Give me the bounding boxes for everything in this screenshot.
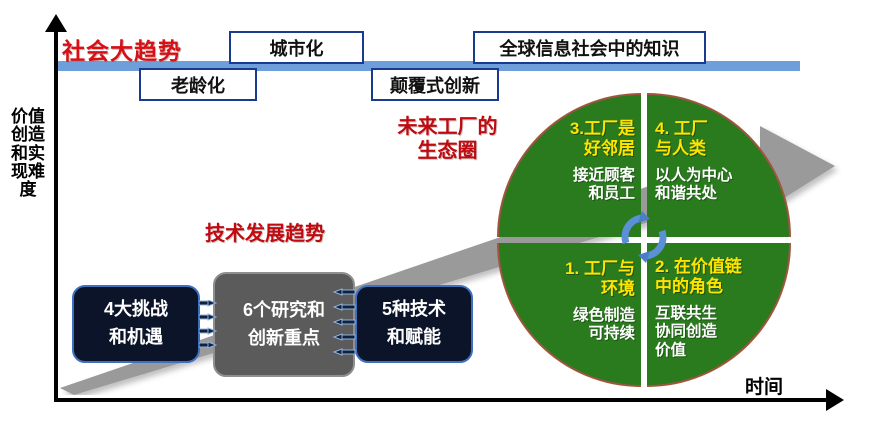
ecosystem-callout-line2: 生态圈 [385, 139, 510, 163]
quadrant-3-sub-line2: 和员工 [573, 185, 635, 203]
box-4-challenges-line1: 4大挑战 [104, 296, 168, 324]
megatrend-title: 社会大趋势 [62, 32, 182, 66]
future-factory-circle: 3.工厂是 好邻居 接近顾客 和员工 4. 工厂 与人类 以人为中心 和谐共处 … [497, 93, 791, 387]
box-5-technologies-line2: 和赋能 [387, 324, 441, 352]
arrows-left-to-center [199, 300, 217, 360]
ecosystem-callout-line1: 未来工厂的 [385, 115, 510, 139]
quadrant-3-title: 3.工厂是 好邻居 [570, 119, 635, 158]
quadrant-1-subtitle: 绿色制造 可持续 [573, 307, 635, 344]
tech-trend-callout: 技术发展趋势 [185, 222, 345, 246]
box-5-technologies-line1: 5种技术 [382, 296, 446, 324]
quadrant-4-sub-line2: 和谐共处 [655, 185, 733, 203]
box-6-research-focus-line2: 创新重点 [248, 325, 320, 353]
box-4-challenges-line2: 和机遇 [109, 324, 163, 352]
megatrend-box-disruptive-innovation[interactable]: 颠覆式创新 [371, 68, 499, 101]
quadrant-4-title-line2: 与人类 [655, 139, 708, 159]
ecosystem-callout: 未来工厂的 生态圈 [385, 115, 510, 164]
megatrend-box-aging[interactable]: 老龄化 [139, 68, 257, 101]
y-axis-label: 价值创造和实现难度 [8, 108, 48, 200]
quadrant-3-sub-line1: 接近顾客 [573, 167, 635, 185]
cycle-refresh-icon [612, 205, 676, 269]
x-axis-arrowhead [826, 389, 844, 411]
quadrant-1-title-line2: 环境 [565, 279, 635, 299]
x-axis-line [54, 398, 830, 402]
megatrend-box-global-knowledge[interactable]: 全球信息社会中的知识 [473, 31, 706, 64]
quadrant-3-title-line1: 3.工厂是 [570, 119, 635, 139]
quadrant-1-sub-line1: 绿色制造 [573, 307, 635, 325]
quadrant-4-subtitle: 以人为中心 和谐共处 [655, 167, 733, 204]
y-axis-arrowhead [45, 14, 67, 32]
quadrant-2-title-line2: 中的角色 [655, 277, 742, 297]
box-4-challenges[interactable]: 4大挑战 和机遇 [72, 285, 200, 363]
megatrend-box-urbanization[interactable]: 城市化 [229, 31, 364, 64]
quadrant-2-sub-line2: 协同创造 [655, 323, 717, 341]
quadrant-4-title-line1: 4. 工厂 [655, 119, 708, 139]
arrows-right-to-center [332, 288, 356, 366]
box-5-technologies[interactable]: 5种技术 和赋能 [355, 285, 473, 363]
quadrant-2-subtitle: 互联共生 协同创造 价值 [655, 305, 717, 360]
box-6-research-focus-line1: 6个研究和 [243, 297, 325, 325]
diagram-canvas: 价值创造和实现难度 时间 社会大趋势 城市化 老龄化 颠覆式创新 全球信息社会中… [0, 0, 879, 440]
quadrant-4-sub-line1: 以人为中心 [655, 167, 733, 185]
quadrant-1-sub-line2: 可持续 [573, 325, 635, 343]
quadrant-2-sub-line3: 价值 [655, 342, 717, 360]
quadrant-2-sub-line1: 互联共生 [655, 305, 717, 323]
quadrant-3-subtitle: 接近顾客 和员工 [573, 167, 635, 204]
quadrant-3-title-line2: 好邻居 [570, 139, 635, 159]
y-axis-line [54, 28, 58, 400]
quadrant-4-title: 4. 工厂 与人类 [655, 119, 708, 158]
